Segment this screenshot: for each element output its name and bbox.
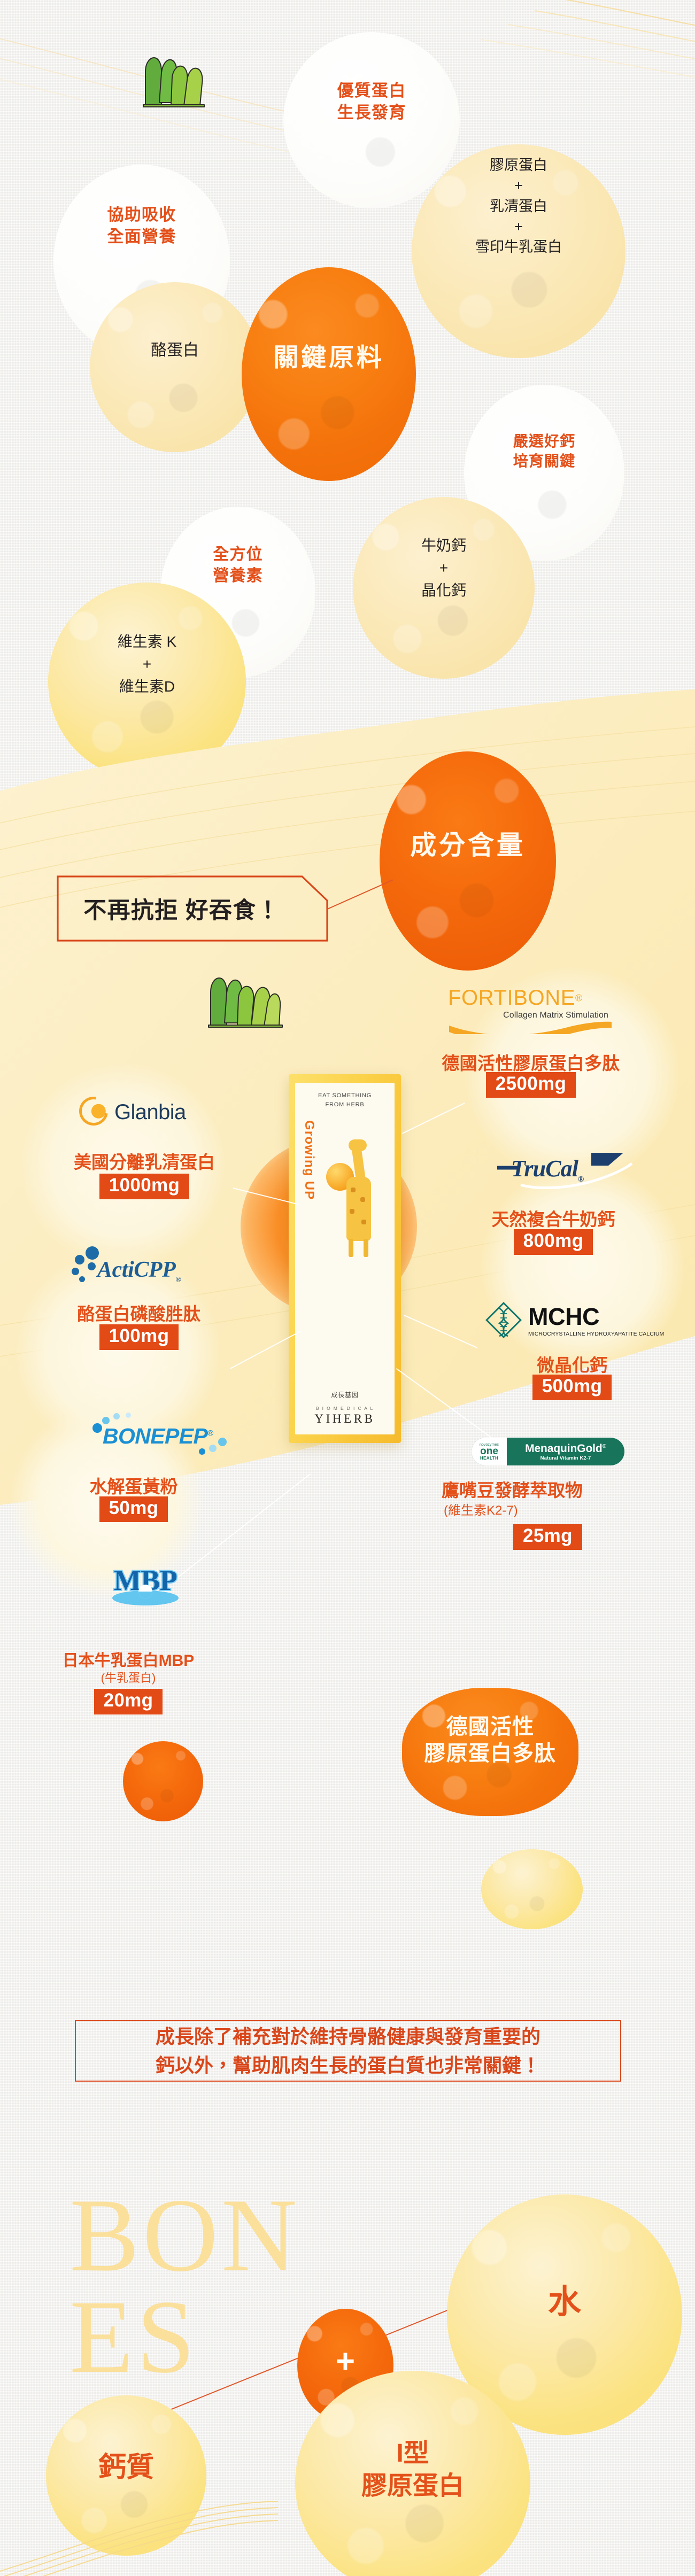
product-vertical-title: Growing UP: [302, 1120, 316, 1200]
feature-highlight-label: 德國活性 膠原蛋白多肽: [402, 1713, 578, 1767]
mbp-logo: MBP: [76, 1566, 215, 1630]
trucal-logo: TruCal®: [497, 1152, 658, 1189]
product-yiherb-label: YIHERB: [295, 1412, 395, 1426]
mbp-amount-wrap: 20mg: [21, 1689, 235, 1714]
bubble-absorption-label: 協助吸收 全面營養: [53, 204, 230, 248]
fortibone-swoosh-icon: [448, 1021, 614, 1034]
bones-ghost-line2: ES: [69, 2287, 198, 2387]
trucal-amount: 800mg: [514, 1229, 593, 1255]
giraffe-leg: [364, 1239, 368, 1257]
trucal-amount-wrap: 800mg: [428, 1229, 679, 1255]
mchc-dna-diamond-icon: [488, 1304, 520, 1336]
bubble-casein: [90, 282, 260, 452]
giraffe-leg: [349, 1239, 353, 1257]
trucal-registered-mark: ®: [578, 1175, 583, 1184]
giraffe-head: [349, 1139, 367, 1151]
mbp-name-sub: (牛乳蛋白): [21, 1669, 235, 1686]
glanbia-name-zh: 美國分離乳清蛋白: [32, 1148, 257, 1174]
menaquingold-amount: 25mg: [513, 1524, 582, 1550]
giraffe-spot: [350, 1209, 354, 1214]
decorative-swirl-bottom: [0, 2501, 278, 2576]
acticpp-name-zh: 酪蛋白磷酸胜肽: [32, 1300, 246, 1325]
acticpp-registered-mark: ®: [175, 1276, 181, 1284]
fortibone-registered-mark: ®: [575, 993, 582, 1004]
giraffe-spot: [360, 1197, 365, 1202]
menaquingold-brand: MenaquinGold: [525, 1442, 603, 1455]
menaquingold-logo: novozymes one HEALTH MenaquinGold® Natur…: [472, 1438, 624, 1465]
bonepep-name-zh: 水解蛋黃粉: [32, 1472, 235, 1498]
bonepep-logo: BONEPEP®: [75, 1411, 262, 1459]
fortibone-brand: FORTIBONE: [448, 986, 575, 1010]
node-water-label: 水: [447, 2282, 682, 2323]
menaquingold-amount-wrap: 25mg: [513, 1524, 674, 1550]
bones-statement-box: 成長除了補充對於維持骨骼健康與發育重要的 鈣以外，幫助肌肉生長的蛋白質也非常關鍵…: [75, 2020, 621, 2082]
acticpp-logo: ActiCPP®: [72, 1245, 253, 1293]
callout-easy-to-swallow: 不再抗拒 好吞食！: [56, 875, 329, 942]
acticpp-amount: 100mg: [99, 1324, 179, 1350]
node-calcium-label: 鈣質: [46, 2451, 206, 2485]
fortibone-name-zh: 德國活性膠原蛋白多肽: [400, 1049, 662, 1075]
product-tagline: EAT SOMETHING FROM HERB: [295, 1091, 395, 1109]
menaquingold-name-zh: 鷹嘴豆發酵萃取物: [442, 1476, 666, 1502]
mbp-amount: 20mg: [94, 1689, 163, 1714]
bubble-casein-label: 酪蛋白: [90, 337, 260, 360]
mchc-amount: 500mg: [532, 1375, 612, 1400]
menaquingold-registered-mark: ®: [603, 1444, 606, 1449]
bubble-select-calcium-label: 嚴選好鈣 培育關鍵: [464, 432, 624, 471]
mchc-amount-wrap: 500mg: [460, 1375, 684, 1400]
menaquingold-novozymes-badge: novozymes one HEALTH: [472, 1438, 507, 1465]
bubble-vitamin-kd-label: 維生素 K + 維生素D: [48, 631, 246, 698]
product-tagline-line1: EAT SOMETHING: [318, 1092, 372, 1099]
bonepep-brand: BONEPEP: [103, 1424, 207, 1448]
bonepep-registered-mark: ®: [207, 1429, 213, 1438]
bones-ghost-line1: BON: [69, 2186, 300, 2285]
mchc-logo: MCHC MICROCRYSTALLINE HYDROXYAPATITE CAL…: [488, 1299, 669, 1341]
glanbia-logo: Glanbia: [79, 1097, 186, 1128]
mchc-subtitle: MICROCRYSTALLINE HYDROXYAPATITE CALCIUM: [528, 1331, 664, 1337]
hero-circle-key-ingredients-label: 關鍵原料: [242, 342, 416, 374]
fortibone-amount: 2500mg: [486, 1072, 576, 1098]
grass-sprig-icon: [138, 49, 208, 108]
grass-sprig-icon-mid: [204, 968, 285, 1028]
bubble-protein-growth-label: 優質蛋白 生長發育: [283, 80, 460, 124]
product-package: EAT SOMETHING FROM HERB Growing UP 成長基因 …: [289, 1074, 401, 1443]
glanbia-amount: 1000mg: [99, 1174, 189, 1199]
trucal-brand: TruCal: [511, 1155, 578, 1182]
mbp-name-zh: 日本牛乳蛋白MBP: [21, 1647, 235, 1671]
acticpp-brand: ActiCPP: [97, 1258, 175, 1282]
bonepep-amount-wrap: 50mg: [32, 1496, 235, 1522]
bones-top-accent-blob: [481, 1849, 583, 1929]
callout-easy-to-swallow-label: 不再抗拒 好吞食！: [56, 875, 307, 942]
accent-blob-small: [123, 1741, 203, 1821]
menaquingold-name-sub: (維生素K2-7): [444, 1500, 668, 1518]
glanbia-brand: Glanbia: [114, 1100, 186, 1124]
menaquingold-one-text: one: [480, 1446, 498, 1456]
menaquingold-health-text: HEALTH: [480, 1456, 498, 1461]
menaquingold-brand-wrap: MenaquinGold®: [525, 1442, 606, 1455]
mchc-brand: MCHC: [528, 1303, 664, 1331]
trucal-name-zh: 天然複合牛奶鈣: [428, 1205, 679, 1231]
fortibone-logo: FORTIBONE® Collagen Matrix Stimulation: [448, 986, 624, 1037]
product-biomedical-label: B I O M E D I C A L: [295, 1406, 395, 1411]
bubble-milk-calcium-mix-label: 牛奶鈣 + 晶化鈣: [353, 534, 535, 602]
mchc-name-zh: 微晶化鈣: [460, 1351, 684, 1377]
fortibone-amount-wrap: 2500mg: [400, 1072, 662, 1098]
giraffe-spot: [361, 1220, 366, 1224]
product-brand-zh: 成長基因: [295, 1390, 395, 1399]
node-collagen-label: I型 膠原蛋白: [295, 2437, 530, 2503]
product-tagline-line2: FROM HERB: [326, 1101, 365, 1108]
bubble-collagen-mix-label: 膠原蛋白 + 乳清蛋白 + 雪印牛乳蛋白: [412, 155, 625, 258]
bonepep-amount: 50mg: [99, 1496, 168, 1522]
glanbia-amount-wrap: 1000mg: [32, 1174, 257, 1199]
fortibone-subtitle: Collagen Matrix Stimulation: [448, 1011, 608, 1020]
node-plus-label: +: [297, 2345, 393, 2378]
acticpp-amount-wrap: 100mg: [32, 1324, 246, 1350]
giraffe-spot: [351, 1188, 356, 1192]
hero-circle-composition-label: 成分含量: [380, 829, 556, 862]
hero-circle-key-ingredients: [242, 267, 416, 481]
glanbia-mark-icon: [79, 1097, 108, 1128]
product-infographic-page: 優質蛋白 生長發育 膠原蛋白 + 乳清蛋白 + 雪印牛乳蛋白 協助吸收 全面營養…: [0, 0, 695, 2576]
bubble-full-nutrients-label: 全方位 營養素: [160, 544, 315, 586]
mbp-disc-icon: [112, 1590, 179, 1605]
menaquingold-subtitle: Natural Vitamin K2-7: [540, 1455, 591, 1461]
bones-statement-text: 成長除了補充對於維持骨骼健康與發育重要的 鈣以外，幫助肌肉生長的蛋白質也非常關鍵…: [149, 2022, 547, 2080]
